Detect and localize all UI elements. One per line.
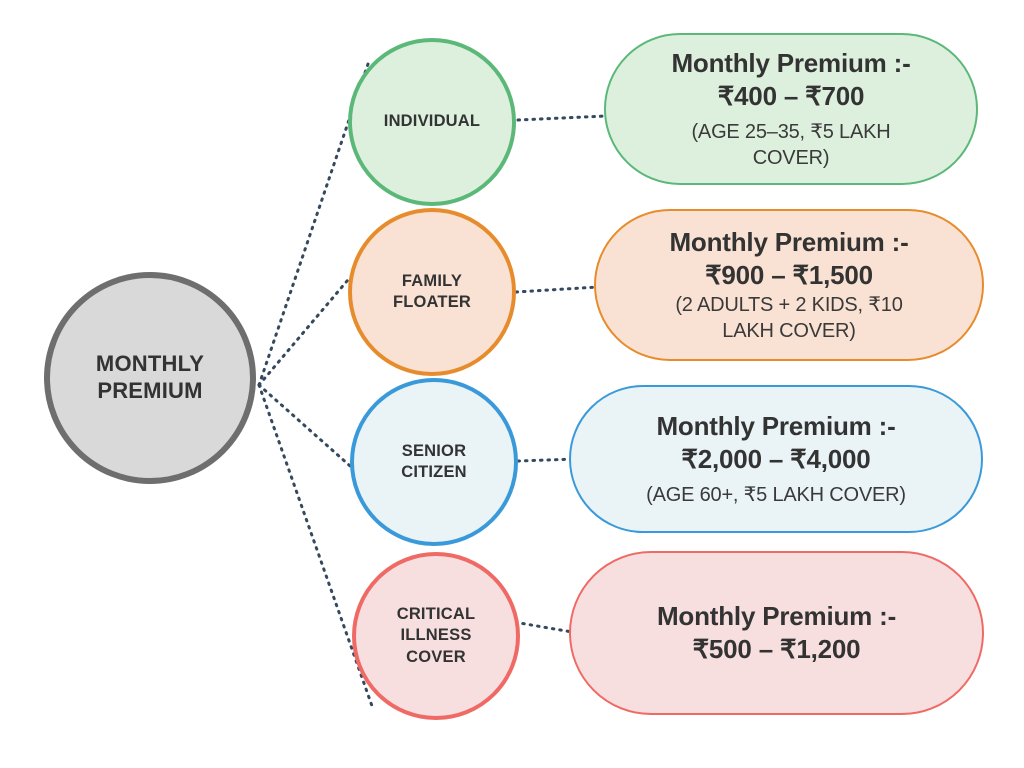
premium-subtitle-family-floater: (2 ADULTS + 2 KIDS, ₹10 LAKH COVER): [650, 292, 928, 344]
category-node-critical-illness-cover[interactable]: CRITICAL ILLNESS COVER: [352, 552, 520, 720]
premium-title-senior-citizen: Monthly Premium :- ₹2,000 – ₹4,000: [656, 410, 895, 476]
premium-card-individual[interactable]: Monthly Premium :- ₹400 – ₹700 (AGE 25–3…: [604, 33, 978, 185]
hub-node-monthly-premium[interactable]: MONTHLY PREMIUM: [44, 272, 256, 484]
premium-title-individual: Monthly Premium :- ₹400 – ₹700: [671, 47, 910, 113]
diagram-canvas: MONTHLY PREMIUM INDIVIDUAL FAMILY FLOATE…: [0, 0, 1024, 768]
connector-senior-citizen-to-pill: [518, 459, 576, 461]
connector-individual-to-pill: [518, 116, 606, 120]
hub-label: MONTHLY PREMIUM: [96, 351, 204, 405]
premium-title-critical-illness-cover: Monthly Premium :- ₹500 – ₹1,200: [657, 600, 896, 666]
connector-hub-to-senior-citizen: [259, 385, 358, 473]
premium-title-family-floater: Monthly Premium :- ₹900 – ₹1,500: [669, 226, 908, 292]
category-label-critical-illness-cover: CRITICAL ILLNESS COVER: [389, 604, 484, 667]
premium-card-family-floater[interactable]: Monthly Premium :- ₹900 – ₹1,500 (2 ADUL…: [594, 209, 984, 361]
category-label-individual: INDIVIDUAL: [376, 111, 488, 132]
premium-subtitle-senior-citizen: (AGE 60+, ₹5 LAKH COVER): [646, 482, 906, 508]
connector-hub-to-family-floater: [259, 268, 358, 385]
category-label-senior-citizen: SENIOR CITIZEN: [393, 441, 475, 483]
category-node-family-floater[interactable]: FAMILY FLOATER: [348, 208, 516, 376]
connector-family-floater-to-pill: [516, 287, 598, 292]
premium-subtitle-individual: (AGE 25–35, ₹5 LAKH COVER): [660, 119, 922, 171]
category-node-senior-citizen[interactable]: SENIOR CITIZEN: [350, 378, 518, 546]
category-node-individual[interactable]: INDIVIDUAL: [348, 38, 516, 206]
premium-card-senior-citizen[interactable]: Monthly Premium :- ₹2,000 – ₹4,000 (AGE …: [569, 385, 983, 533]
category-label-family-floater: FAMILY FLOATER: [385, 271, 479, 313]
premium-card-critical-illness-cover[interactable]: Monthly Premium :- ₹500 – ₹1,200: [569, 551, 984, 715]
